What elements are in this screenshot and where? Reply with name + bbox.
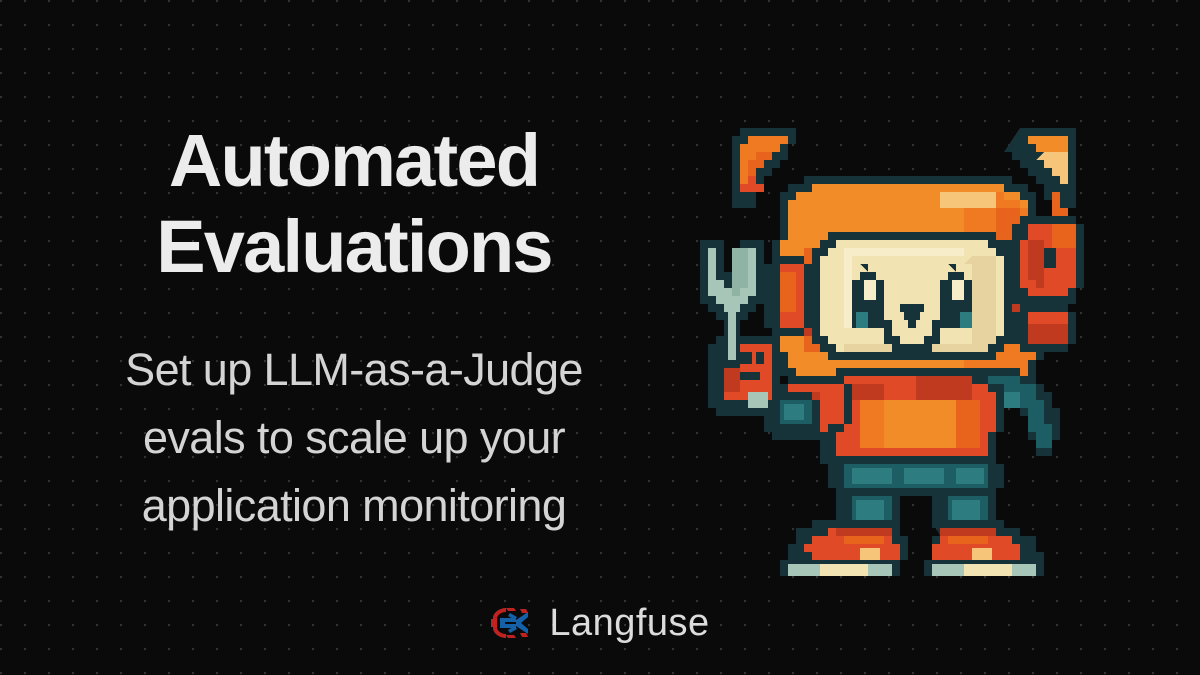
langfuse-logo-icon (490, 605, 532, 641)
brand-name-label: Langfuse (549, 604, 709, 642)
brand-lockup: Langfuse (0, 604, 1200, 642)
langfuse-logo-blue-part (500, 612, 528, 634)
mascot-legs-and-boots (780, 488, 1044, 576)
promo-banner: Automated Evaluations Set up LLM-as-a-Ju… (0, 0, 1200, 675)
mascot-face-visor (812, 232, 1012, 360)
pixel-art-fox-robot-holding-wrench-icon (672, 104, 1144, 576)
hero-text-block: Automated Evaluations Set up LLM-as-a-Ju… (36, 118, 672, 540)
page-subtitle: Set up LLM-as-a-Judge evals to scale up … (36, 336, 672, 540)
langfuse-logo-red-part (491, 608, 528, 638)
page-title: Automated Evaluations (36, 118, 672, 290)
